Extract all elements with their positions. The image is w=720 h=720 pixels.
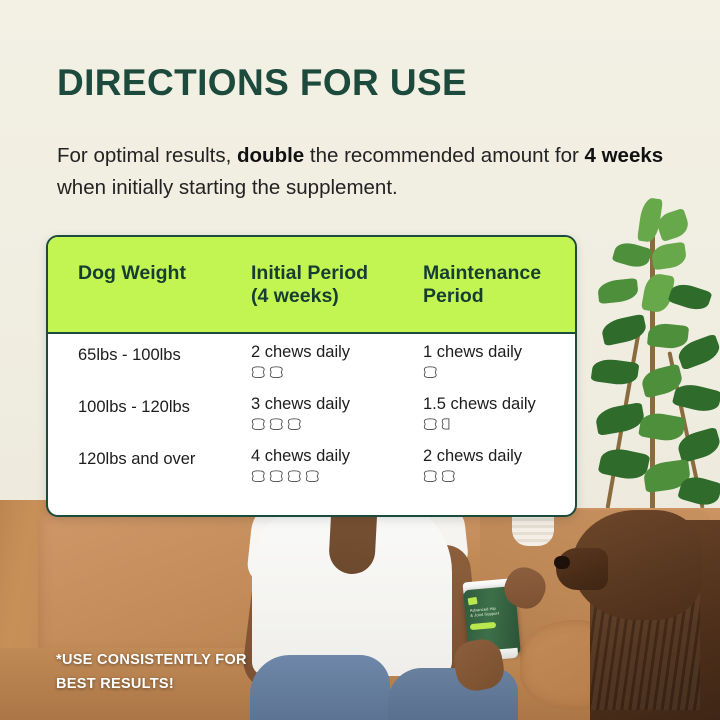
chew-icon [269,418,284,431]
chew-icon [423,418,438,431]
cell-maintenance-period-text: 1 chews daily [423,342,522,363]
column-header-maintenance-period-line2: Period [423,285,541,308]
column-header-initial-period-line1: Initial Period [251,262,368,285]
table-header-row: Dog Weight Initial Period (4 weeks) Main… [48,237,575,334]
initial-chew-icons [251,470,350,483]
chew-icon [423,470,438,483]
cell-initial-period-text: 2 chews daily [251,342,350,363]
subtitle-text-2: the recommended amount for [304,144,584,167]
column-header-maintenance-period: Maintenance Period [423,262,541,308]
cell-initial-period: 2 chews daily [251,342,350,379]
footnote: *USE CONSISTENTLY FOR BEST RESULTS! [56,648,306,696]
initial-chew-icons [251,418,350,431]
column-header-initial-period: Initial Period (4 weeks) [251,262,368,308]
footnote-line-1: *USE CONSISTENTLY FOR [56,648,306,672]
chew-icon [305,470,320,483]
column-header-initial-period-line2: (4 weeks) [251,285,368,308]
cell-maintenance-period: 1.5 chews daily [423,394,536,431]
table-row: 120lbs and over4 chews daily2 chews dail… [48,446,575,498]
cell-maintenance-period: 1 chews daily [423,342,522,379]
subtitle-bold-4weeks: 4 weeks [585,144,664,167]
cell-maintenance-period: 2 chews daily [423,446,522,483]
chew-icon [251,418,266,431]
cell-dog-weight: 100lbs - 120lbs [78,397,190,418]
subtitle-paragraph: For optimal results, double the recommen… [57,140,667,204]
cell-dog-weight: 120lbs and over [78,449,195,470]
cell-maintenance-period-text: 1.5 chews daily [423,394,536,415]
subtitle-text-1: For optimal results, [57,144,237,167]
chew-icon [423,366,438,379]
column-header-dog-weight: Dog Weight [78,262,186,285]
table-row: 100lbs - 120lbs3 chews daily1.5 chews da… [48,394,575,446]
cell-maintenance-period-text: 2 chews daily [423,446,522,467]
chew-icon [287,470,302,483]
table-body: 65lbs - 100lbs2 chews daily1 chews daily… [48,334,575,498]
maintenance-chew-icons [423,418,536,431]
subtitle-bold-double: double [237,144,304,167]
chew-icon [251,366,266,379]
chew-icon [269,470,284,483]
cell-initial-period: 4 chews daily [251,446,350,483]
column-header-maintenance-period-line1: Maintenance [423,262,541,285]
dosage-table-card: Dog Weight Initial Period (4 weeks) Main… [46,235,577,517]
chew-icon [441,470,456,483]
maintenance-chew-icons [423,366,522,379]
chew-icon [269,366,284,379]
subtitle-text-3: when initially starting the supplement. [57,176,398,199]
cell-dog-weight: 65lbs - 100lbs [78,345,181,366]
table-row: 65lbs - 100lbs2 chews daily1 chews daily [48,342,575,394]
cell-initial-period: 3 chews daily [251,394,350,431]
chew-icon [251,470,266,483]
page-title: DIRECTIONS FOR USE [57,62,467,104]
chew-icon [287,418,302,431]
cell-initial-period-text: 3 chews daily [251,394,350,415]
maintenance-chew-icons [423,470,522,483]
cell-initial-period-text: 4 chews daily [251,446,350,467]
footnote-line-2: BEST RESULTS! [56,672,306,696]
half-chew-icon [441,418,450,431]
initial-chew-icons [251,366,350,379]
